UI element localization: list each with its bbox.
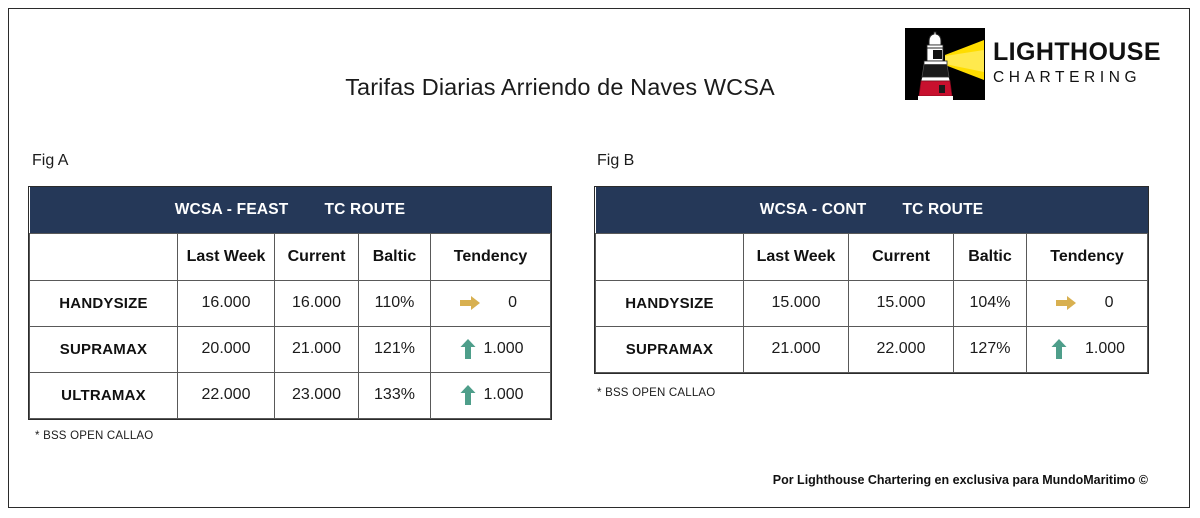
table-row: SUPRAMAX 21.000 22.000 127% 1.000	[596, 326, 1148, 372]
fig-a-banner-right: TC ROUTE	[324, 201, 405, 218]
fig-a-label: Fig A	[32, 152, 68, 170]
fig-a-row0-tendency: 0	[431, 280, 551, 326]
fig-a-row2-tendency: 1.000	[431, 372, 551, 418]
fig-b-row0-baltic: 104%	[954, 280, 1027, 326]
fig-a-row0-tendency-value: 0	[498, 294, 528, 312]
fig-b-footnote: * BSS OPEN CALLAO	[597, 387, 715, 399]
fig-a-row2-tendency-value: 1.000	[484, 386, 528, 404]
fig-a-col-blank	[30, 233, 178, 280]
arrow-right-icon	[1054, 293, 1078, 313]
fig-b-row0-current: 15.000	[849, 280, 954, 326]
logo-wordmark: LIGHTHOUSE CHARTERING	[993, 40, 1168, 89]
fig-a-row0-current: 16.000	[275, 280, 359, 326]
fig-a-row1-baltic: 121%	[359, 326, 431, 372]
arrow-right-icon	[458, 293, 482, 313]
fig-a-row1-current: 21.000	[275, 326, 359, 372]
fig-b-col-tendency: Tendency	[1027, 233, 1148, 280]
fig-a-row0-baltic: 110%	[359, 280, 431, 326]
logo-word-chartering: CHARTERING	[993, 66, 1168, 89]
logo-word-lighthouse: LIGHTHOUSE	[993, 40, 1168, 66]
fig-b-label: Fig B	[597, 152, 634, 170]
fig-a-row1-tendency: 1.000	[431, 326, 551, 372]
table-row: HANDYSIZE 16.000 16.000 110% 0	[30, 280, 551, 326]
fig-a-grid: WCSA - FEASTTC ROUTE Last Week Current B…	[29, 187, 551, 419]
lighthouse-glyph	[905, 28, 985, 100]
fig-b-banner-left: WCSA - CONT	[760, 201, 867, 218]
fig-b-col-last-week: Last Week	[744, 233, 849, 280]
fig-b-row0-last-week: 15.000	[744, 280, 849, 326]
lighthouse-chartering-logo: LIGHTHOUSE CHARTERING	[905, 28, 1167, 106]
fig-b-row1-tendency-value: 1.000	[1085, 340, 1129, 358]
arrow-up-icon	[458, 337, 478, 361]
fig-a-row0-last-week: 16.000	[178, 280, 275, 326]
fig-a-footnote: * BSS OPEN CALLAO	[35, 430, 153, 442]
footer-credit: Por Lighthouse Chartering en exclusiva p…	[600, 473, 1148, 487]
fig-b-banner-right: TC ROUTE	[902, 201, 983, 218]
fig-a-row2-last-week: 22.000	[178, 372, 275, 418]
fig-a-banner-left: WCSA - FEAST	[175, 201, 289, 218]
fig-a-row1-last-week: 20.000	[178, 326, 275, 372]
slide-canvas: Tarifas Diarias Arriendo de Naves WCSA	[0, 0, 1200, 518]
lighthouse-icon	[905, 28, 985, 100]
fig-a-banner: WCSA - FEASTTC ROUTE	[30, 187, 551, 233]
table-banner-row: WCSA - FEASTTC ROUTE	[30, 187, 551, 233]
fig-b-row1-name: SUPRAMAX	[596, 326, 744, 372]
table-row: SUPRAMAX 20.000 21.000 121% 1.000	[30, 326, 551, 372]
table-header-row: Last Week Current Baltic Tendency	[30, 233, 551, 280]
fig-a-col-tendency: Tendency	[431, 233, 551, 280]
table-banner-row: WCSA - CONTTC ROUTE	[596, 187, 1148, 233]
fig-b-table: WCSA - CONTTC ROUTE Last Week Current Ba…	[594, 186, 1149, 374]
fig-a-row1-tendency-value: 1.000	[484, 340, 528, 358]
fig-b-row0-name: HANDYSIZE	[596, 280, 744, 326]
fig-a-col-baltic: Baltic	[359, 233, 431, 280]
fig-b-row1-current: 22.000	[849, 326, 954, 372]
fig-b-row1-tendency: 1.000	[1027, 326, 1148, 372]
fig-b-row1-baltic: 127%	[954, 326, 1027, 372]
fig-b-col-baltic: Baltic	[954, 233, 1027, 280]
fig-a-row2-baltic: 133%	[359, 372, 431, 418]
fig-a-row1-name: SUPRAMAX	[30, 326, 178, 372]
fig-b-grid: WCSA - CONTTC ROUTE Last Week Current Ba…	[595, 187, 1148, 373]
fig-b-banner: WCSA - CONTTC ROUTE	[596, 187, 1148, 233]
fig-b-row0-tendency: 0	[1027, 280, 1148, 326]
table-row: ULTRAMAX 22.000 23.000 133% 1.000	[30, 372, 551, 418]
fig-a-col-current: Current	[275, 233, 359, 280]
arrow-up-icon	[1049, 337, 1069, 361]
fig-a-col-last-week: Last Week	[178, 233, 275, 280]
fig-a-row2-name: ULTRAMAX	[30, 372, 178, 418]
fig-a-row2-current: 23.000	[275, 372, 359, 418]
fig-b-col-blank	[596, 233, 744, 280]
fig-a-table: WCSA - FEASTTC ROUTE Last Week Current B…	[28, 186, 552, 420]
fig-b-row1-last-week: 21.000	[744, 326, 849, 372]
fig-b-col-current: Current	[849, 233, 954, 280]
arrow-up-icon	[458, 383, 478, 407]
page-title: Tarifas Diarias Arriendo de Naves WCSA	[200, 74, 920, 101]
table-row: HANDYSIZE 15.000 15.000 104% 0	[596, 280, 1148, 326]
fig-b-row0-tendency-value: 0	[1094, 294, 1124, 312]
table-header-row: Last Week Current Baltic Tendency	[596, 233, 1148, 280]
fig-a-row0-name: HANDYSIZE	[30, 280, 178, 326]
